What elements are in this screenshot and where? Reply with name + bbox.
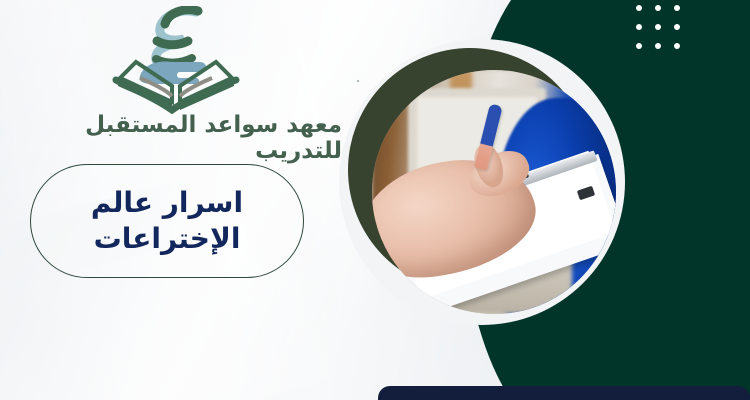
institute-logo-icon — [110, 6, 242, 114]
dot — [655, 5, 661, 11]
background-speck — [357, 80, 359, 82]
dot — [674, 24, 680, 30]
brand-name: معهد سواعد المستقبل للتدريب — [0, 112, 348, 164]
hand-writing-on-clipboard-photo — [372, 70, 616, 314]
course-title-line-1: اسرار عالم — [91, 185, 243, 221]
dot — [655, 24, 661, 30]
dot — [636, 24, 642, 30]
course-title-pill: اسرار عالم الإختراعات — [30, 164, 304, 278]
course-title: اسرار عالم الإختراعات — [91, 185, 243, 257]
dot — [674, 5, 680, 11]
promo-banner: معهد سواعد المستقبل للتدريب اسرار عالم ا… — [0, 0, 750, 400]
dot — [636, 43, 642, 49]
course-title-line-2: الإختراعات — [91, 221, 243, 257]
dot — [674, 43, 680, 49]
bottom-navy-bar — [378, 386, 750, 400]
dot — [636, 5, 642, 11]
photo-group — [348, 48, 616, 316]
institute-logo — [110, 6, 242, 114]
dot-grid-decoration — [636, 0, 698, 60]
dot — [655, 43, 661, 49]
